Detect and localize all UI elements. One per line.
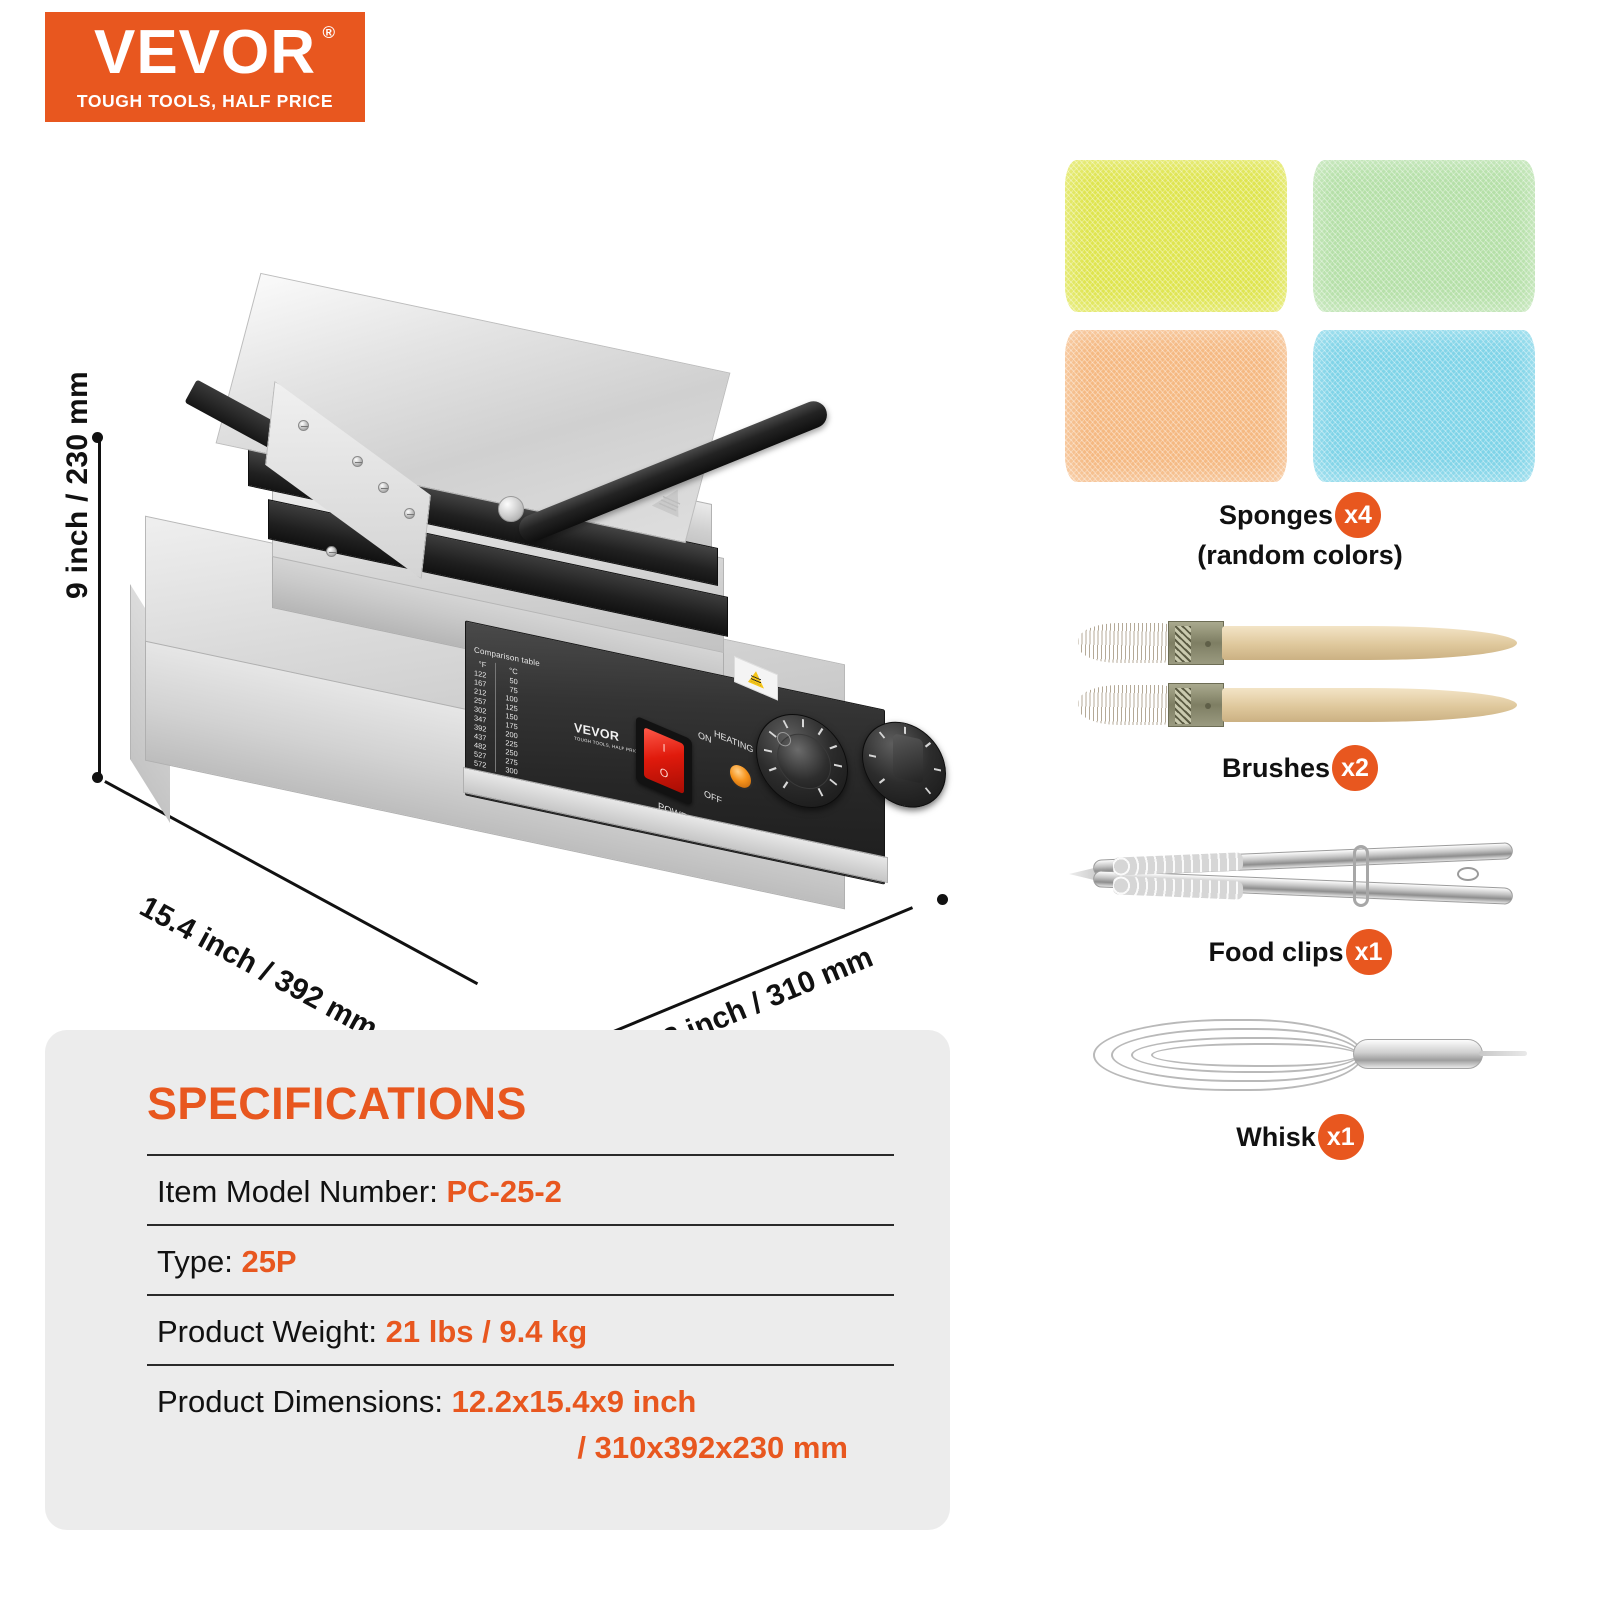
brand-name-text: VEVOR (94, 18, 316, 87)
food-clips-caption: Food clips x1 (1020, 929, 1580, 975)
power-rocker-switch[interactable]: I O (636, 716, 692, 806)
sponges-caption: Sponges x4 (1020, 492, 1580, 538)
whisk-caption: Whisk x1 (1020, 1114, 1580, 1160)
brush-item (1060, 673, 1540, 735)
brush-item (1060, 611, 1540, 673)
accessories-column: Sponges x4 (random colors) Brushes x2 (1020, 160, 1580, 1166)
specifications-rows: Item Model Number: PC-25-2 Type: 25P Pro… (147, 1154, 894, 1472)
brush-handle (1222, 626, 1517, 660)
switch-on-label: ON (698, 729, 712, 745)
screw-icon (326, 546, 337, 557)
celsius-header: °C (509, 665, 518, 676)
height-dimension-line (98, 438, 101, 778)
accessory-whisk: Whisk x1 (1020, 1009, 1580, 1160)
specifications-panel: SPECIFICATIONS Item Model Number: PC-25-… (45, 1030, 950, 1530)
switch-on-symbol: I (662, 742, 665, 755)
accessory-brushes: Brushes x2 (1020, 611, 1580, 791)
fahrenheit-column: °F 122 167 212 257 302 347 392 437 482 5… (474, 658, 486, 770)
spec-value-dimensions: 12.2x15.4x9 inch (452, 1384, 697, 1419)
whisk-qty-badge: x1 (1318, 1114, 1364, 1160)
fahrenheit-header: °F (479, 659, 487, 670)
accessory-sponges: Sponges x4 (random colors) (1020, 160, 1580, 571)
food-clips-label: Food clips (1209, 937, 1344, 968)
registered-mark: ® (323, 24, 337, 41)
heating-indicator-lamp (728, 759, 753, 795)
spec-label-model: Item Model Number: (157, 1174, 438, 1209)
spec-label-dimensions: Product Dimensions: (157, 1384, 443, 1419)
brushes-qty-badge: x2 (1332, 745, 1378, 791)
sponge-grid (1065, 160, 1535, 482)
switch-off-label: OFF (704, 788, 722, 806)
whisk-handle (1353, 1039, 1483, 1069)
screw-icon (378, 482, 389, 493)
spec-row-dimensions: Product Dimensions: 12.2x15.4x9 inch / 3… (147, 1364, 894, 1472)
brush-bristles (1078, 685, 1170, 725)
sponge-item (1313, 160, 1535, 312)
accessory-food-clips: Food clips x1 (1020, 829, 1580, 975)
tongs-scallop-upper (1113, 852, 1244, 875)
console-brand-mark: VEVOR TOUGH TOOLS, HALF PRICE (574, 721, 641, 756)
tongs-lock-ring (1353, 845, 1369, 907)
spec-label-type: Type: (157, 1244, 233, 1279)
brand-tagline: TOUGH TOOLS, HALF PRICE (77, 91, 333, 112)
spec-row-weight: Product Weight: 21 lbs / 9.4 kg (147, 1294, 894, 1364)
product-illustration: 9 inch / 230 mm 15.4 inch / 392 mm 12.2 … (0, 150, 1000, 970)
waffle-press-machine: Comparison table °F 122 167 212 257 302 … (120, 260, 950, 980)
screw-icon (352, 456, 363, 467)
screw-icon (298, 420, 309, 431)
specifications-title: SPECIFICATIONS (147, 1078, 894, 1130)
brand-name: VEVOR ® (94, 22, 316, 84)
handle-pivot-cap (498, 496, 524, 522)
switch-off-symbol: O (660, 765, 669, 781)
spec-dimensions-continuation: / 310x392x230 mm (157, 1430, 894, 1466)
whisk-wire (1151, 1043, 1359, 1067)
spec-label-weight: Product Weight: (157, 1314, 377, 1349)
sponge-item (1065, 330, 1287, 482)
vevor-logo: VEVOR ® TOUGH TOOLS, HALF PRICE (45, 12, 365, 122)
brush-ferrule (1168, 683, 1224, 727)
food-tongs (1065, 829, 1535, 919)
brush-bristles (1078, 623, 1170, 663)
tongs-hang-hole (1457, 867, 1479, 881)
height-dimension-label: 9 inch / 230 mm (61, 345, 95, 625)
height-dimension-dot-bottom (92, 772, 103, 783)
celsius-column: °C 50 75 100 125 150 175 200 225 250 275… (495, 663, 517, 777)
sponge-item (1065, 160, 1287, 312)
whisk-tail (1479, 1051, 1527, 1056)
sponges-label: Sponges (1219, 500, 1333, 531)
spec-value-weight: 21 lbs / 9.4 kg (386, 1314, 588, 1349)
spec-row-type: Type: 25P (147, 1224, 894, 1294)
sponges-qty-badge: x4 (1335, 492, 1381, 538)
sponge-item (1313, 330, 1535, 482)
whisk-label: Whisk (1236, 1122, 1316, 1153)
brush-group (1060, 611, 1540, 735)
spec-value-dimensions-mm: / 310x392x230 mm (577, 1430, 848, 1465)
spec-value-type: 25P (241, 1244, 296, 1279)
sponges-note: (random colors) (1020, 540, 1580, 571)
spec-row-model: Item Model Number: PC-25-2 (147, 1154, 894, 1224)
brush-handle (1222, 688, 1517, 722)
spec-value-model: PC-25-2 (446, 1174, 561, 1209)
heating-label: HEATING (714, 728, 753, 755)
brushes-caption: Brushes x2 (1020, 745, 1580, 791)
temperature-knob[interactable] (756, 705, 848, 817)
temperature-comparison-table: Comparison table °F 122 167 212 257 302 … (474, 645, 540, 781)
food-clips-qty-badge: x1 (1346, 929, 1392, 975)
whisk-illustration (1065, 1009, 1535, 1104)
timer-knob[interactable] (862, 714, 946, 816)
screw-icon (404, 508, 415, 519)
brush-ferrule (1168, 621, 1224, 665)
brushes-label: Brushes (1222, 753, 1330, 784)
